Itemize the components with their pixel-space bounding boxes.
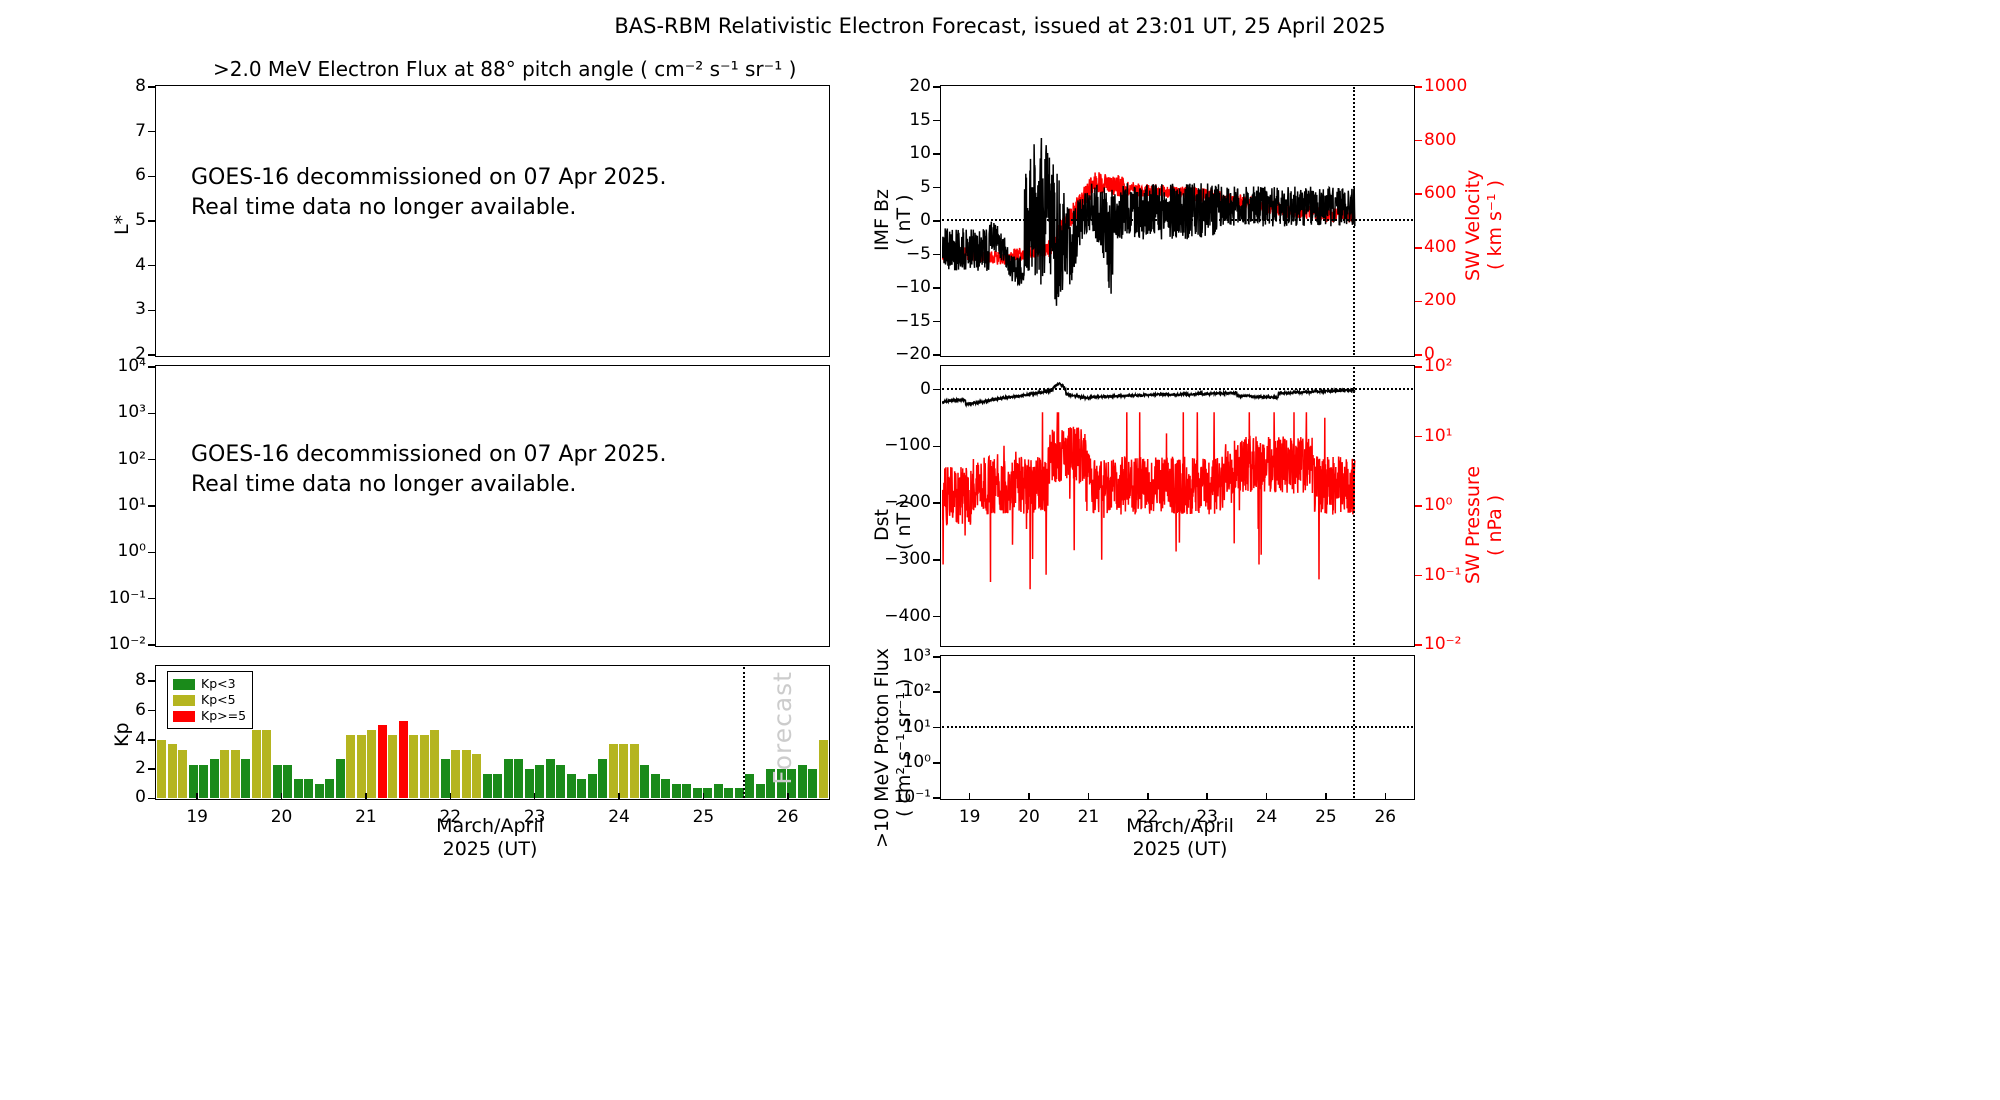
ytick-kp-0: 8	[135, 670, 146, 690]
panel-electron-flux-timeseries: GOES-16 decommissioned on 07 Apr 2025.Re…	[155, 365, 830, 647]
xtick-proton-7: 26	[1373, 807, 1397, 827]
kp-bar	[325, 779, 334, 798]
ytick-swv-1: 800	[1424, 130, 1456, 150]
kp-bar	[441, 759, 450, 799]
xtick-kp-6: 25	[691, 807, 715, 827]
kp-bar	[535, 765, 544, 799]
kp-bar	[724, 788, 733, 798]
ytick-swp-3: 10⁻¹	[1424, 565, 1461, 585]
ytick-bz-7: −15	[895, 311, 931, 331]
ytick-flux-6: 10⁻²	[109, 634, 146, 654]
kp-bar	[651, 774, 660, 799]
kp-bar	[504, 759, 513, 799]
panel-electron-flux-lstar: GOES-16 decommissioned on 07 Apr 2025.Re…	[155, 85, 830, 357]
electron-flux-subtitle: >2.0 MeV Electron Flux at 88° pitch angl…	[213, 57, 796, 81]
ytick-bz-0: 20	[909, 76, 931, 96]
kp-bar	[546, 759, 555, 799]
forecast-watermark: Forecast	[768, 671, 797, 785]
ylabel-sw-velocity: SW Velocity ( km s⁻¹ )	[1463, 140, 1507, 310]
kp-bar	[178, 750, 187, 798]
legend-item-kp-mid: Kp<5	[173, 692, 246, 708]
zero-reference-line	[942, 219, 1414, 221]
kp-bar	[220, 750, 229, 798]
ytick-bz-4: 0	[920, 210, 931, 230]
kp-bar	[630, 744, 639, 798]
ytick-flux-3: 10¹	[118, 495, 146, 515]
ytick-swv-0: 1000	[1424, 76, 1467, 96]
kp-bar	[693, 788, 702, 798]
ytick-lstar-1: 7	[135, 121, 146, 141]
kp-bar	[682, 784, 691, 799]
panel-imf-bz	[940, 85, 1415, 357]
ytick-lstar-2: 6	[135, 165, 146, 185]
dst-traces	[942, 367, 1414, 646]
ytick-dst-4: −400	[884, 606, 931, 626]
ytick-proton-3: 10⁰	[903, 752, 931, 772]
xtick-kp-7: 26	[776, 807, 800, 827]
page-title: BAS-RBM Relativistic Electron Forecast, …	[0, 14, 2000, 38]
ytick-proton-1: 10²	[903, 681, 931, 701]
forecast-divider-bz	[1353, 87, 1355, 356]
ytick-proton-0: 10³	[903, 646, 931, 666]
kp-bar	[745, 774, 754, 799]
xtick-proton-0: 19	[958, 807, 982, 827]
kp-bar	[462, 750, 471, 798]
legend-swatch-green	[173, 679, 195, 690]
ytick-bz-8: −20	[895, 344, 931, 364]
kp-bar	[472, 754, 481, 798]
kp-bar	[609, 744, 618, 798]
xlabel-left-column: March/April2025 (UT)	[340, 815, 640, 861]
kp-bar	[672, 784, 681, 799]
xtick-kp-0: 19	[185, 807, 209, 827]
ytick-proton-2: 10¹	[903, 717, 931, 737]
ytick-lstar-4: 4	[135, 255, 146, 275]
ytick-swv-2: 600	[1424, 183, 1456, 203]
ylabel-sw-pressure: SW Pressure ( nPa )	[1463, 440, 1507, 610]
kp-bar	[168, 744, 177, 798]
kp-bar	[430, 730, 439, 799]
ytick-kp-2: 4	[135, 729, 146, 749]
dst-svg	[942, 367, 1414, 646]
kp-bar	[283, 765, 292, 799]
kp-bar	[304, 779, 313, 798]
legend-item-kp-low: Kp<3	[173, 676, 246, 692]
zero-reference-line	[942, 388, 1414, 390]
ytick-bz-3: 5	[920, 177, 931, 197]
ytick-swv-4: 200	[1424, 290, 1456, 310]
kp-bar	[703, 788, 712, 798]
ytick-dst-1: −100	[884, 435, 931, 455]
ytick-bz-6: −10	[895, 277, 931, 297]
kp-bar	[199, 765, 208, 799]
kp-bar	[367, 730, 376, 799]
kp-bar	[756, 784, 765, 799]
kp-bar	[567, 774, 576, 799]
kp-bar	[378, 725, 387, 798]
legend-label-kp-high: Kp>=5	[201, 710, 246, 723]
kp-bar	[577, 779, 586, 798]
ytick-dst-3: −300	[884, 549, 931, 569]
ytick-swp-0: 10²	[1424, 356, 1452, 376]
kp-bar	[315, 784, 324, 799]
kp-bar	[157, 740, 166, 799]
kp-bar	[399, 721, 408, 799]
kp-bar	[514, 759, 523, 799]
kp-bar	[714, 784, 723, 799]
kp-bar	[388, 735, 397, 798]
ytick-swp-1: 10¹	[1424, 426, 1452, 446]
kp-bar	[556, 765, 565, 799]
panel-kp-index: Forecast Kp<3 Kp<5 Kp>=5	[155, 665, 830, 800]
kp-bar	[808, 769, 817, 798]
kp-bar	[409, 735, 418, 798]
legend-swatch-olive	[173, 695, 195, 706]
ytick-kp-1: 6	[135, 700, 146, 720]
legend-item-kp-high: Kp>=5	[173, 708, 246, 724]
kp-bar	[451, 750, 460, 798]
forecast-divider-proton	[1353, 657, 1355, 799]
ytick-swp-4: 10⁻²	[1424, 634, 1461, 654]
xlabel-right-column: March/April2025 (UT)	[1030, 815, 1330, 861]
ytick-lstar-0: 8	[135, 76, 146, 96]
ytick-kp-3: 2	[135, 758, 146, 778]
ytick-lstar-3: 5	[135, 210, 146, 230]
kp-bar	[241, 759, 250, 799]
panel-dst	[940, 365, 1415, 647]
kp-bar	[262, 730, 271, 799]
decommission-message-flux: GOES-16 decommissioned on 07 Apr 2025.Re…	[191, 440, 667, 499]
kp-bar	[357, 735, 366, 798]
ytick-flux-5: 10⁻¹	[109, 588, 146, 608]
ytick-flux-2: 10²	[118, 449, 146, 469]
ytick-lstar-5: 3	[135, 299, 146, 319]
ytick-dst-0: 0	[920, 379, 931, 399]
kp-bar	[598, 759, 607, 799]
ytick-bz-5: −5	[906, 244, 931, 264]
legend-label-kp-mid: Kp<5	[201, 694, 236, 707]
kp-bars	[157, 667, 829, 799]
ytick-flux-0: 10⁴	[118, 356, 146, 376]
kp-bar	[619, 744, 628, 798]
ylabel-lstar: L*	[112, 195, 134, 255]
ytick-bz-1: 15	[909, 110, 931, 130]
panel-proton-flux	[940, 655, 1415, 800]
ytick-swp-2: 10⁰	[1424, 495, 1452, 515]
ylabel-proton-flux: >10 MeV Proton Flux ( cm² s⁻¹ sr⁻¹ )	[872, 648, 916, 848]
kp-bar	[525, 769, 534, 798]
decommission-message-lstar: GOES-16 decommissioned on 07 Apr 2025.Re…	[191, 163, 667, 222]
kp-bar	[588, 774, 597, 799]
kp-bar	[798, 765, 807, 799]
plot-frame	[155, 365, 830, 647]
kp-bar	[336, 759, 345, 799]
ytick-flux-1: 10³	[118, 402, 146, 422]
kp-bar	[294, 779, 303, 798]
ylabel-kp: Kp	[112, 710, 134, 760]
ytick-proton-4: 10⁻¹	[894, 787, 931, 807]
kp-bar	[493, 774, 502, 799]
ytick-kp-4: 0	[135, 787, 146, 807]
kp-bar	[210, 759, 219, 799]
forecast-divider-kp	[743, 667, 745, 799]
legend-label-kp-low: Kp<3	[201, 678, 236, 691]
ytick-dst-2: −200	[884, 492, 931, 512]
kp-bar	[819, 740, 828, 799]
kp-bar	[231, 750, 240, 798]
proton-threshold-line	[942, 726, 1414, 728]
ytick-swv-3: 400	[1424, 237, 1456, 257]
ytick-flux-4: 10⁰	[118, 541, 146, 561]
kp-bar	[483, 774, 492, 799]
ytick-bz-2: 10	[909, 143, 931, 163]
kp-bar	[346, 735, 355, 798]
kp-bar	[420, 735, 429, 798]
kp-bar	[252, 730, 261, 799]
legend-swatch-red	[173, 711, 195, 722]
forecast-divider-dst	[1353, 367, 1355, 646]
kp-bar	[640, 765, 649, 799]
kp-legend: Kp<3 Kp<5 Kp>=5	[167, 671, 253, 729]
kp-bar	[661, 779, 670, 798]
xtick-kp-1: 20	[270, 807, 294, 827]
